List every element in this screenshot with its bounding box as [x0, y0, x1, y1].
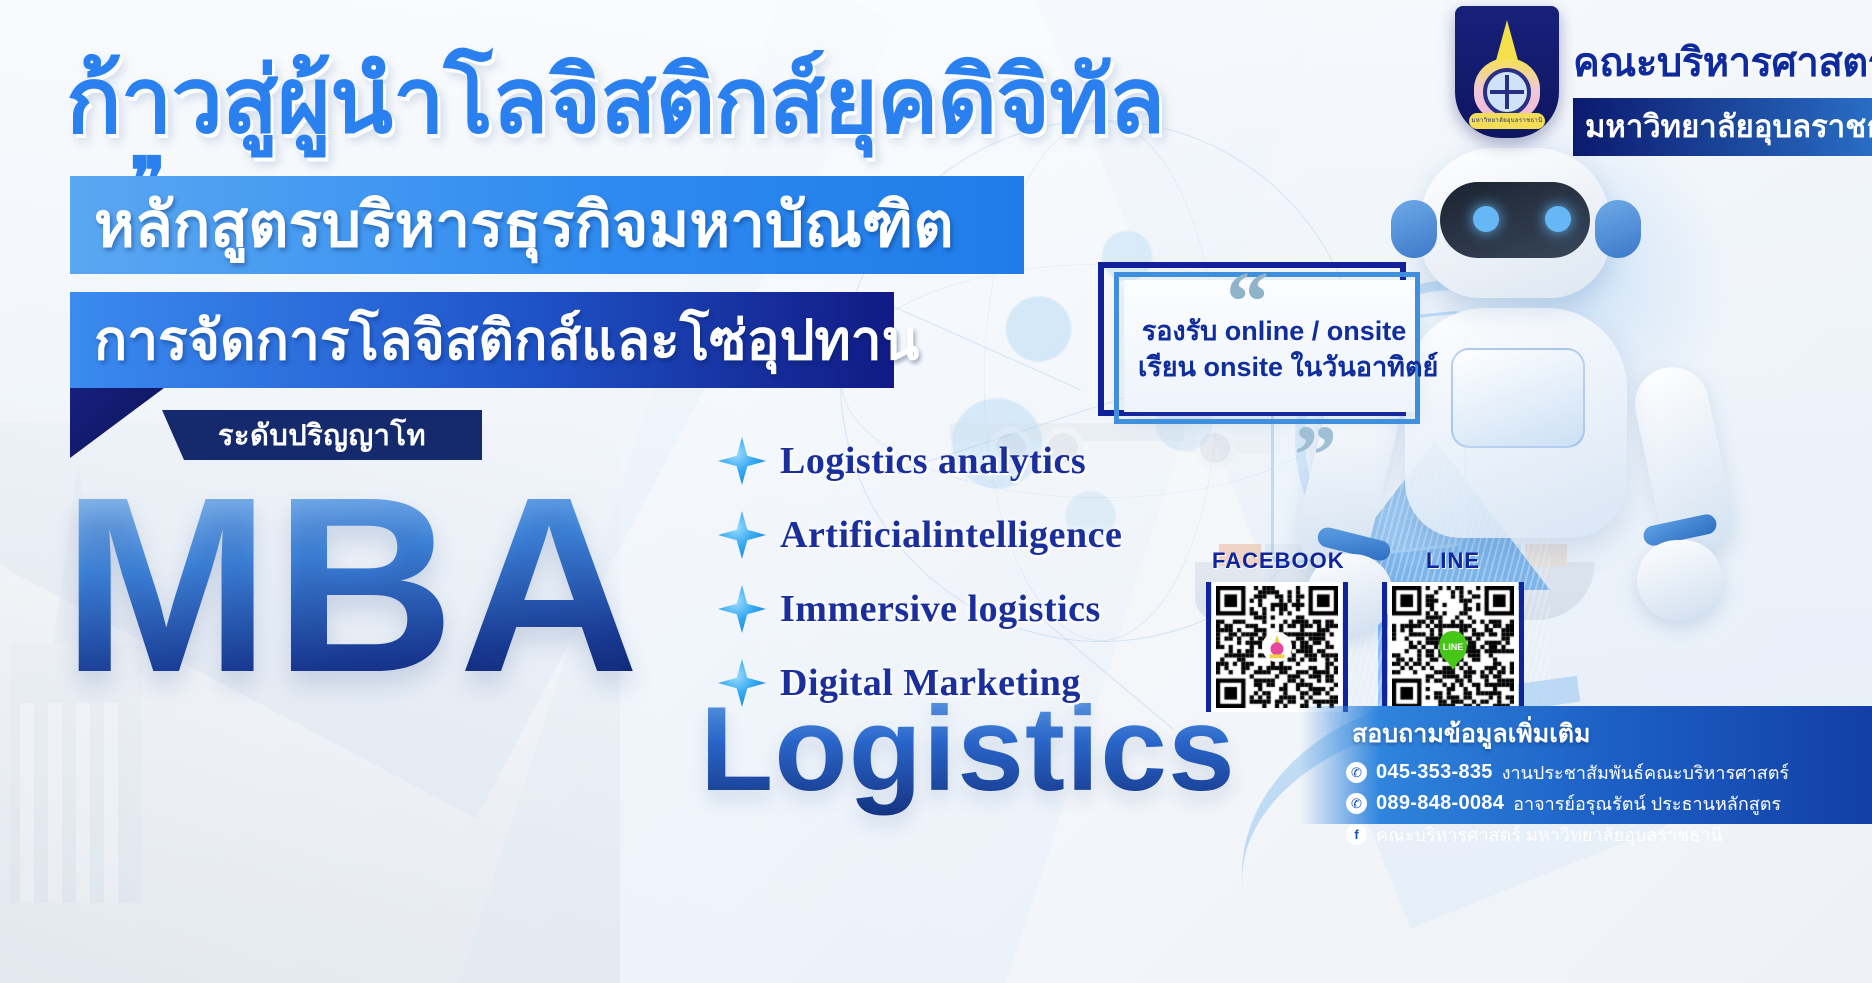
feature-label: Immersive logistics: [780, 587, 1101, 631]
major-name-bar: การจัดการโลจิสติกส์และโซ่อุปทาน: [70, 292, 894, 388]
sparkle-icon: [718, 437, 766, 485]
faculty-name: คณะบริหารศาสตร์: [1573, 30, 1872, 94]
quote-text-block: รองรับ online / onsite เรียน onsite ในวั…: [1138, 314, 1410, 385]
sparkle-icon: [718, 511, 766, 559]
robot-chest-panel: [1451, 348, 1585, 448]
feature-list: Logistics analytics Artificialintelligen…: [718, 430, 1122, 726]
program-name-bar: หลักสูตรบริหารธุรกิจมหาบัณฑิต: [70, 176, 1024, 274]
availability-quote-card: “ ” รองรับ online / onsite เรียน onsite …: [1098, 262, 1418, 412]
qr-frame-line[interactable]: LINE: [1388, 582, 1518, 712]
sparkle-icon: [718, 585, 766, 633]
building-column: [48, 703, 62, 903]
robot-eye-right: [1545, 206, 1571, 232]
contact-row-phone-1[interactable]: ✆ 045-353-835 งานประชาสัมพันธ์คณะบริหารศ…: [1346, 758, 1854, 787]
quote-line-1: รองรับ online / onsite: [1138, 314, 1410, 350]
line-pin-icon: LINE: [1438, 632, 1468, 662]
robot-wrist-band-right: [1642, 513, 1719, 548]
university-crest-icon: มหาวิทยาลัยอุบลราชธานี: [1455, 6, 1559, 138]
crest-scroll-text: มหาวิทยาลัยอุบลราชธานี: [1469, 113, 1545, 129]
feature-item: Artificialintelligence: [718, 504, 1122, 566]
crest-dharma-wheel-icon: [1483, 68, 1531, 116]
robot-ear-right: [1595, 200, 1641, 258]
building-column: [76, 703, 90, 903]
qr-item-facebook[interactable]: FACEBOOK: [1212, 548, 1342, 712]
robot-torso: [1405, 308, 1627, 538]
contact-number-2: 089-848-0084: [1376, 792, 1504, 815]
contact-note-3: คณะบริหารศาสตร์ มหาวิทยาลัยอุบลราชธานี: [1376, 820, 1723, 849]
quote-line-2: เรียน onsite ในวันอาทิตย์: [1138, 350, 1410, 386]
ship-container: [1525, 544, 1567, 566]
facebook-icon: f: [1346, 824, 1367, 845]
mba-wordmark: MBA: [62, 470, 643, 700]
qr-code-block: FACEBOOK LINE LINE: [1212, 548, 1518, 712]
robot-visor: [1440, 182, 1590, 258]
university-name-block: คณะบริหารศาสตร์ มหาวิทยาลัยอุบลราชธานี: [1573, 6, 1872, 156]
robot-glow: [1405, 110, 1735, 440]
ship-bridge: [1395, 492, 1471, 522]
contact-row-phone-2[interactable]: ✆ 089-848-0084 อาจารย์อรุณรัตน์ ประธานหล…: [1346, 789, 1854, 818]
contact-number-1: 045-353-835: [1376, 761, 1493, 784]
phone-icon: ✆: [1346, 793, 1367, 814]
robot-arm-right: [1628, 360, 1740, 561]
feature-item: Immersive logistics: [718, 578, 1122, 640]
university-name: มหาวิทยาลัยอุบลราชธานี: [1573, 98, 1872, 156]
robot-ear-left: [1391, 200, 1437, 258]
contact-note-1: งานประชาสัมพันธ์คณะบริหารศาสตร์: [1502, 758, 1789, 787]
feature-item: Logistics analytics: [718, 430, 1122, 492]
building-column: [20, 703, 34, 903]
truck-wheel: [1194, 427, 1236, 469]
contact-note-2: อาจารย์อรุณรัตน์ ประธานหลักสูตร: [1513, 789, 1781, 818]
feature-item: Digital Marketing: [718, 652, 1122, 714]
qr-title-facebook: FACEBOOK: [1212, 548, 1342, 574]
feature-label: Digital Marketing: [780, 661, 1081, 705]
robot-eye-left: [1473, 206, 1499, 232]
qr-title-line: LINE: [1388, 548, 1518, 574]
robot-head: [1420, 148, 1610, 298]
qr-item-line[interactable]: LINE LINE: [1388, 548, 1518, 712]
feature-label: Artificialintelligence: [780, 513, 1122, 557]
feature-label: Logistics analytics: [780, 439, 1086, 483]
line-pin-label: LINE: [1439, 631, 1467, 663]
promo-banner: มหาวิทยาลัยอุบลราชธานี คณะบริหารศาสตร์ ม…: [0, 0, 1872, 983]
page-title: ก้าวสู่ผู้นำโลจิสติกส์ยุคดิจิทัล: [66, 26, 1164, 173]
university-logo-block: มหาวิทยาลัยอุบลราชธานี คณะบริหารศาสตร์ ม…: [1455, 6, 1872, 156]
phone-icon: ✆: [1346, 762, 1367, 783]
crest-mini-icon: [1264, 634, 1290, 660]
robot-hand-right: [1637, 540, 1723, 620]
qr-frame-facebook[interactable]: [1212, 582, 1342, 712]
sparkle-icon: [718, 659, 766, 707]
contact-footer: สอบถามข้อมูลเพิ่มเติม ✆ 045-353-835 งานป…: [1300, 706, 1872, 824]
contact-row-facebook[interactable]: f คณะบริหารศาสตร์ มหาวิทยาลัยอุบลราชธานี: [1346, 820, 1854, 849]
contact-heading: สอบถามข้อมูลเพิ่มเติม: [1352, 714, 1854, 754]
building-column: [104, 703, 118, 903]
quote-close-mark: ”: [1294, 412, 1337, 498]
university-crest-icon: [1262, 632, 1292, 662]
